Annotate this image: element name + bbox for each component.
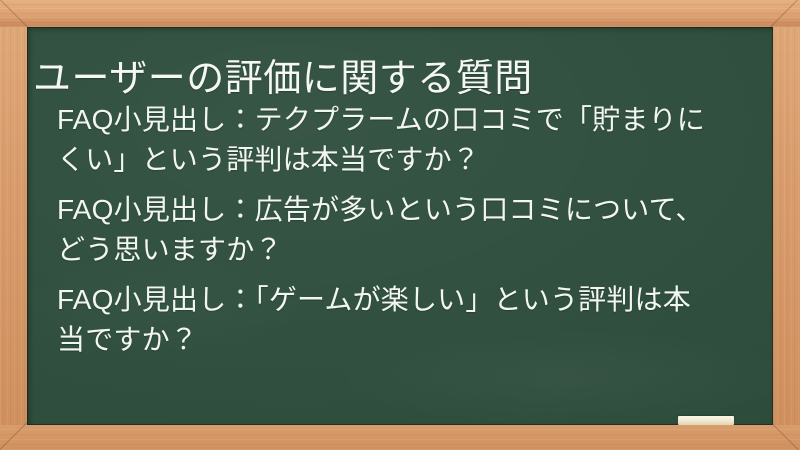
faq-question-list: FAQ小見出し：テクプラームの口コミで「貯まりにくい」という評判は本当ですか？ … — [57, 100, 719, 360]
chalkboard-surface: ユーザーの評価に関する質問 FAQ小見出し：テクプラームの口コミで「貯まりにくい… — [27, 27, 773, 425]
chalkboard-slide: ユーザーの評価に関する質問 FAQ小見出し：テクプラームの口コミで「貯まりにくい… — [0, 0, 800, 450]
faq-item: FAQ小見出し：テクプラームの口コミで「貯まりにくい」という評判は本当ですか？ — [57, 100, 719, 180]
chalkboard-content: ユーザーの評価に関する質問 FAQ小見出し：テクプラームの口コミで「貯まりにくい… — [27, 27, 773, 425]
faq-item: FAQ小見出し：広告が多いという口コミについて、どう思いますか？ — [57, 190, 719, 270]
page-title: ユーザーの評価に関する質問 — [33, 56, 753, 104]
frame-rail-bottom — [0, 425, 800, 450]
chalk-stick-icon — [678, 416, 734, 425]
faq-item: FAQ小見出し：「ゲームが楽しい」という評判は本当ですか？ — [57, 280, 719, 360]
frame-rail-top — [0, 0, 800, 27]
